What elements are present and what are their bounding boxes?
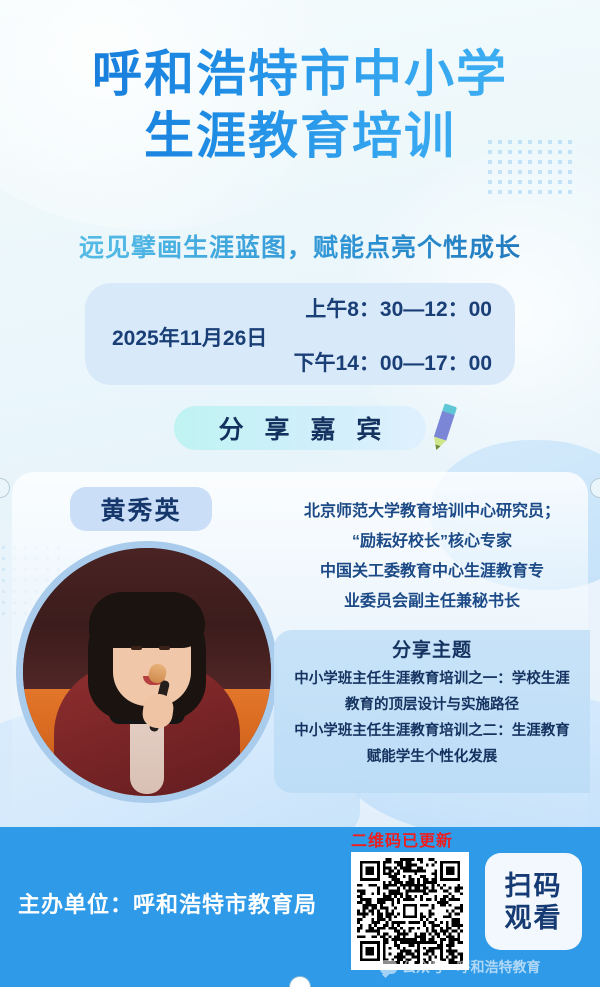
organizer-text: 主办单位：呼和浩特市教育局 (18, 887, 317, 919)
ticket-notch-right (590, 478, 600, 498)
watermark: 公众号 · 呼和浩特教育 (380, 957, 540, 977)
qr-update-note: 二维码已更新 (351, 827, 453, 851)
ticket-notch-left (0, 478, 10, 498)
speaker-bio: 北京师范大学教育培训中心研究员； “励耘好校长”核心专家 中国关工委教育中心生涯… (282, 497, 582, 617)
schedule-date: 2025年11月26日 (112, 322, 267, 352)
scan-button-line-2: 观看 (505, 902, 563, 934)
guest-badge: 分 享 嘉 宾 (174, 406, 426, 450)
topic-line: 教育的顶层设计与实施路径 (274, 692, 590, 718)
poster-root: 呼和浩特市中小学 生涯教育培训 远见擘画生涯蓝图，赋能点亮个性成长 上午8：30… (0, 0, 600, 987)
banner-notch-bottom (289, 976, 311, 987)
poster-subtitle: 远见擘画生涯蓝图，赋能点亮个性成长 (0, 228, 600, 264)
topic-title: 分享主题 (274, 636, 590, 666)
guest-badge-label: 分 享 嘉 宾 (212, 410, 389, 446)
speaker-photo (23, 548, 271, 796)
title-line-2: 生涯教育培训 (0, 106, 600, 166)
schedule-afternoon: 下午14：00—17：00 (294, 347, 492, 377)
poster-title: 呼和浩特市中小学 生涯教育培训 (0, 44, 600, 166)
topic-line: 赋能学生个性化发展 (274, 744, 590, 770)
title-line-1: 呼和浩特市中小学 (0, 44, 600, 104)
wechat-official-account-icon (380, 960, 397, 974)
qr-code-icon[interactable] (351, 852, 469, 970)
qr-code-canvas (357, 858, 463, 964)
topic-line: 中小学班主任生涯教育培训之二：生涯教育 (274, 718, 590, 744)
schedule-morning: 上午8：30—12：00 (305, 293, 492, 323)
scan-to-watch-button[interactable]: 扫码 观看 (485, 853, 582, 950)
guest-badge-wrapper: 分 享 嘉 宾 (0, 406, 600, 450)
scan-button-line-1: 扫码 (505, 870, 563, 902)
speaker-avatar-ring (16, 541, 278, 803)
speaker-name: 黄秀英 (100, 491, 181, 527)
speaker-name-pill: 黄秀英 (70, 487, 212, 531)
bio-line: 业委员会副主任兼秘书长 (282, 587, 582, 617)
watermark-text: 公众号 · 呼和浩特教育 (402, 957, 540, 977)
pencil-icon (426, 402, 460, 454)
topic-card: 分享主题 中小学班主任生涯教育培训之一：学校生涯 教育的顶层设计与实施路径 中小… (274, 630, 590, 793)
topic-line: 中小学班主任生涯教育培训之一：学校生涯 (274, 666, 590, 692)
bio-line: “励耘好校长”核心专家 (282, 527, 582, 557)
bio-line: 中国关工委教育中心生涯教育专 (282, 557, 582, 587)
bio-line: 北京师范大学教育培训中心研究员； (282, 497, 582, 527)
schedule-card: 上午8：30—12：00 2025年11月26日 下午14：00—17：00 (85, 283, 515, 385)
